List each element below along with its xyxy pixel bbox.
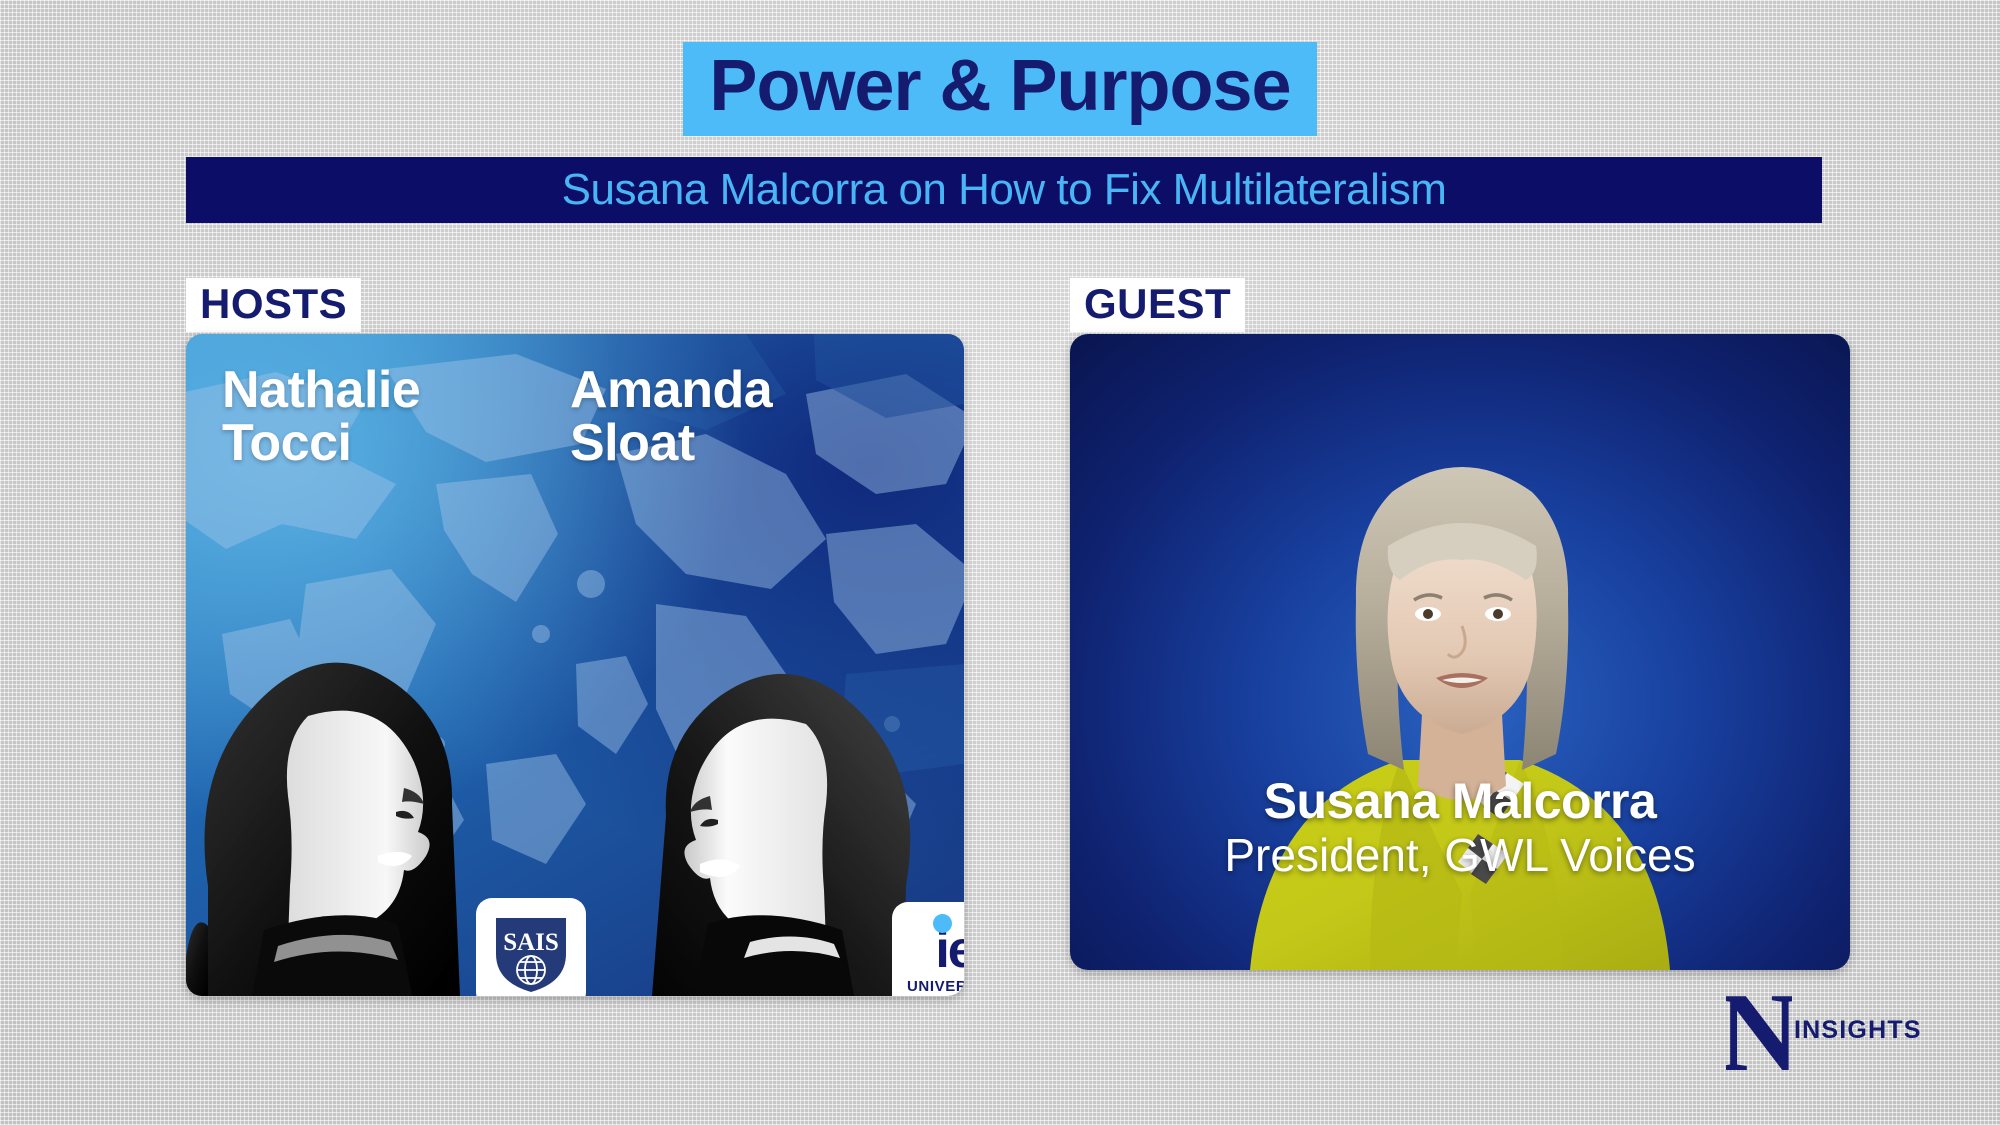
host-name-list: Nathalie Tocci Amanda Sloat [186,334,964,996]
guest-role: President, GWL Voices [1070,828,1850,882]
ie-mark: ie [935,927,964,975]
insights-mark-letter: N [1726,978,1792,1082]
guest-section-label: GUEST [1070,278,1245,332]
sais-shield-icon: SAIS [488,910,574,996]
host-1-first-name: Nathalie [222,364,420,417]
ie-university-wordmark: UNIVERSITY [907,978,964,995]
insights-logo: N INSIGHTS [1726,978,1922,1082]
guest-name: Susana Malcorra [1070,772,1850,830]
insights-n-mark-icon: N [1726,978,1792,1082]
title-block: Power & Purpose [0,42,2000,136]
page-subtitle-bar: Susana Malcorra on How to Fix Multilater… [186,157,1822,223]
guest-caption: Susana Malcorra President, GWL Voices [1070,772,1850,882]
page-title: Power & Purpose [683,42,1316,136]
ie-university-logo: ie UNIVERSITY [892,902,964,996]
host-name-2: Amanda Sloat [570,364,772,470]
sais-logo: SAIS [476,898,586,996]
host-2-first-name: Amanda [570,364,772,417]
hosts-card: Nathalie Tocci Amanda Sloat SAIS ie UN [186,334,964,996]
hosts-section-label: HOSTS [186,278,361,332]
host-1-last-name: Tocci [222,417,420,470]
guest-card: Susana Malcorra President, GWL Voices [1070,334,1850,970]
sais-wordmark: SAIS [503,929,559,956]
host-2-last-name: Sloat [570,417,772,470]
insights-wordmark: INSIGHTS [1794,1016,1922,1045]
page-subtitle: Susana Malcorra on How to Fix Multilater… [562,165,1447,215]
host-name-1: Nathalie Tocci [222,364,420,470]
